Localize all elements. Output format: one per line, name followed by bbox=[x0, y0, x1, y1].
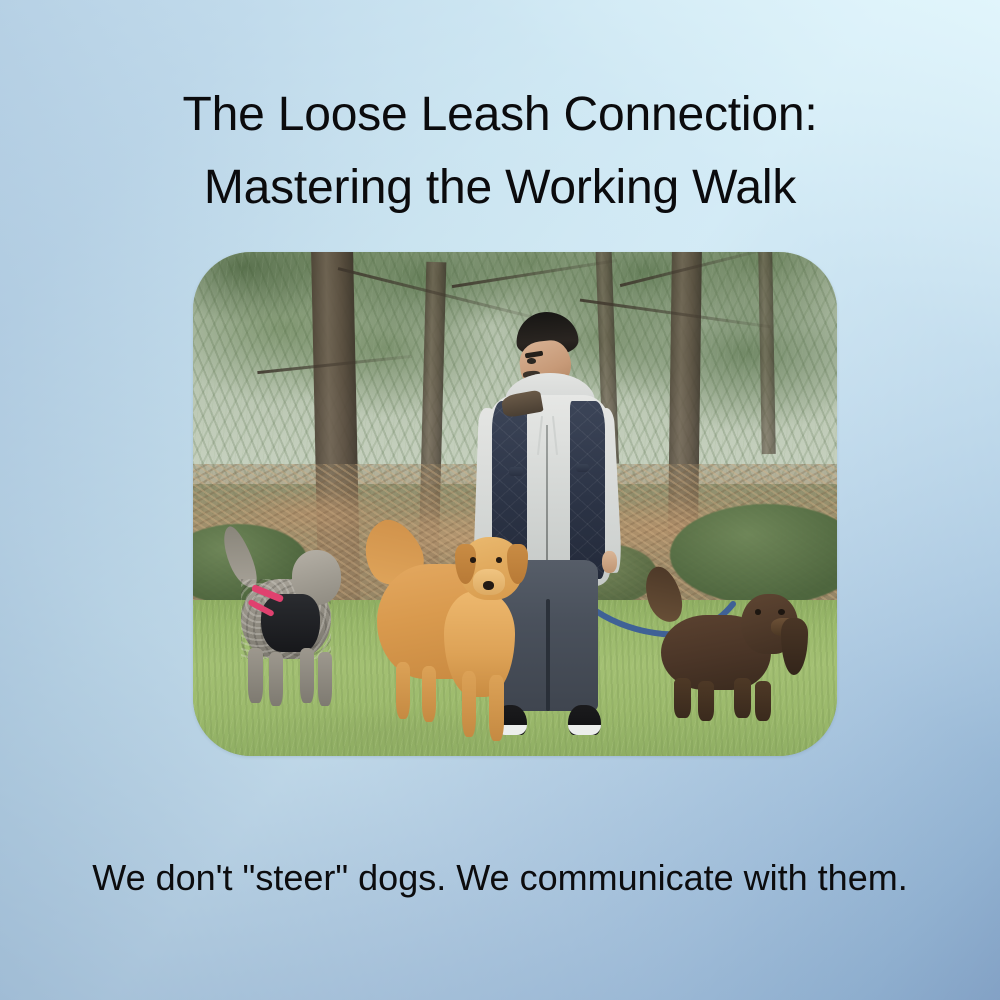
slide-canvas: The Loose Leash Connection: Mastering th… bbox=[0, 0, 1000, 1000]
dog-ear bbox=[507, 544, 528, 584]
dog-walking-photo bbox=[193, 252, 837, 756]
dog-leg bbox=[489, 675, 503, 742]
dog-brown-spaniel bbox=[637, 585, 804, 736]
quilt-texture bbox=[570, 401, 605, 579]
eye bbox=[527, 358, 536, 364]
pant-seam bbox=[546, 599, 550, 712]
dog-leg bbox=[462, 671, 476, 738]
photo-frame bbox=[193, 252, 837, 756]
dog-leg bbox=[300, 648, 314, 702]
caption-text: We don't "steer" dogs. We communicate wi… bbox=[0, 856, 1000, 900]
dog-gray-doodle bbox=[225, 539, 354, 720]
dog-leg bbox=[248, 648, 262, 702]
hand-holding-leash bbox=[602, 551, 616, 573]
title-line-1: The Loose Leash Connection: bbox=[0, 78, 1000, 151]
dog-leg bbox=[698, 681, 715, 720]
vest-panel bbox=[570, 401, 605, 579]
dog-leg bbox=[422, 666, 436, 721]
vest-pocket bbox=[576, 464, 590, 473]
dog-golden-retriever bbox=[370, 524, 531, 746]
vest-pocket bbox=[509, 467, 523, 476]
dog-leg bbox=[734, 678, 751, 717]
dog-eye bbox=[755, 609, 762, 615]
dog-leg bbox=[269, 652, 283, 706]
dog-chest bbox=[444, 591, 515, 697]
dog-nose bbox=[483, 581, 494, 590]
title-line-2: Mastering the Working Walk bbox=[0, 151, 1000, 224]
dog-leg bbox=[755, 681, 772, 720]
dog-eye bbox=[778, 609, 785, 615]
dog-leg bbox=[396, 662, 410, 720]
dog-leg bbox=[674, 678, 691, 717]
shoe-sole bbox=[568, 725, 601, 735]
dog-ear bbox=[781, 618, 808, 675]
shoe bbox=[568, 705, 601, 735]
dog-harness bbox=[261, 594, 320, 652]
dog-leg bbox=[318, 652, 332, 706]
page-title: The Loose Leash Connection: Mastering th… bbox=[0, 78, 1000, 224]
